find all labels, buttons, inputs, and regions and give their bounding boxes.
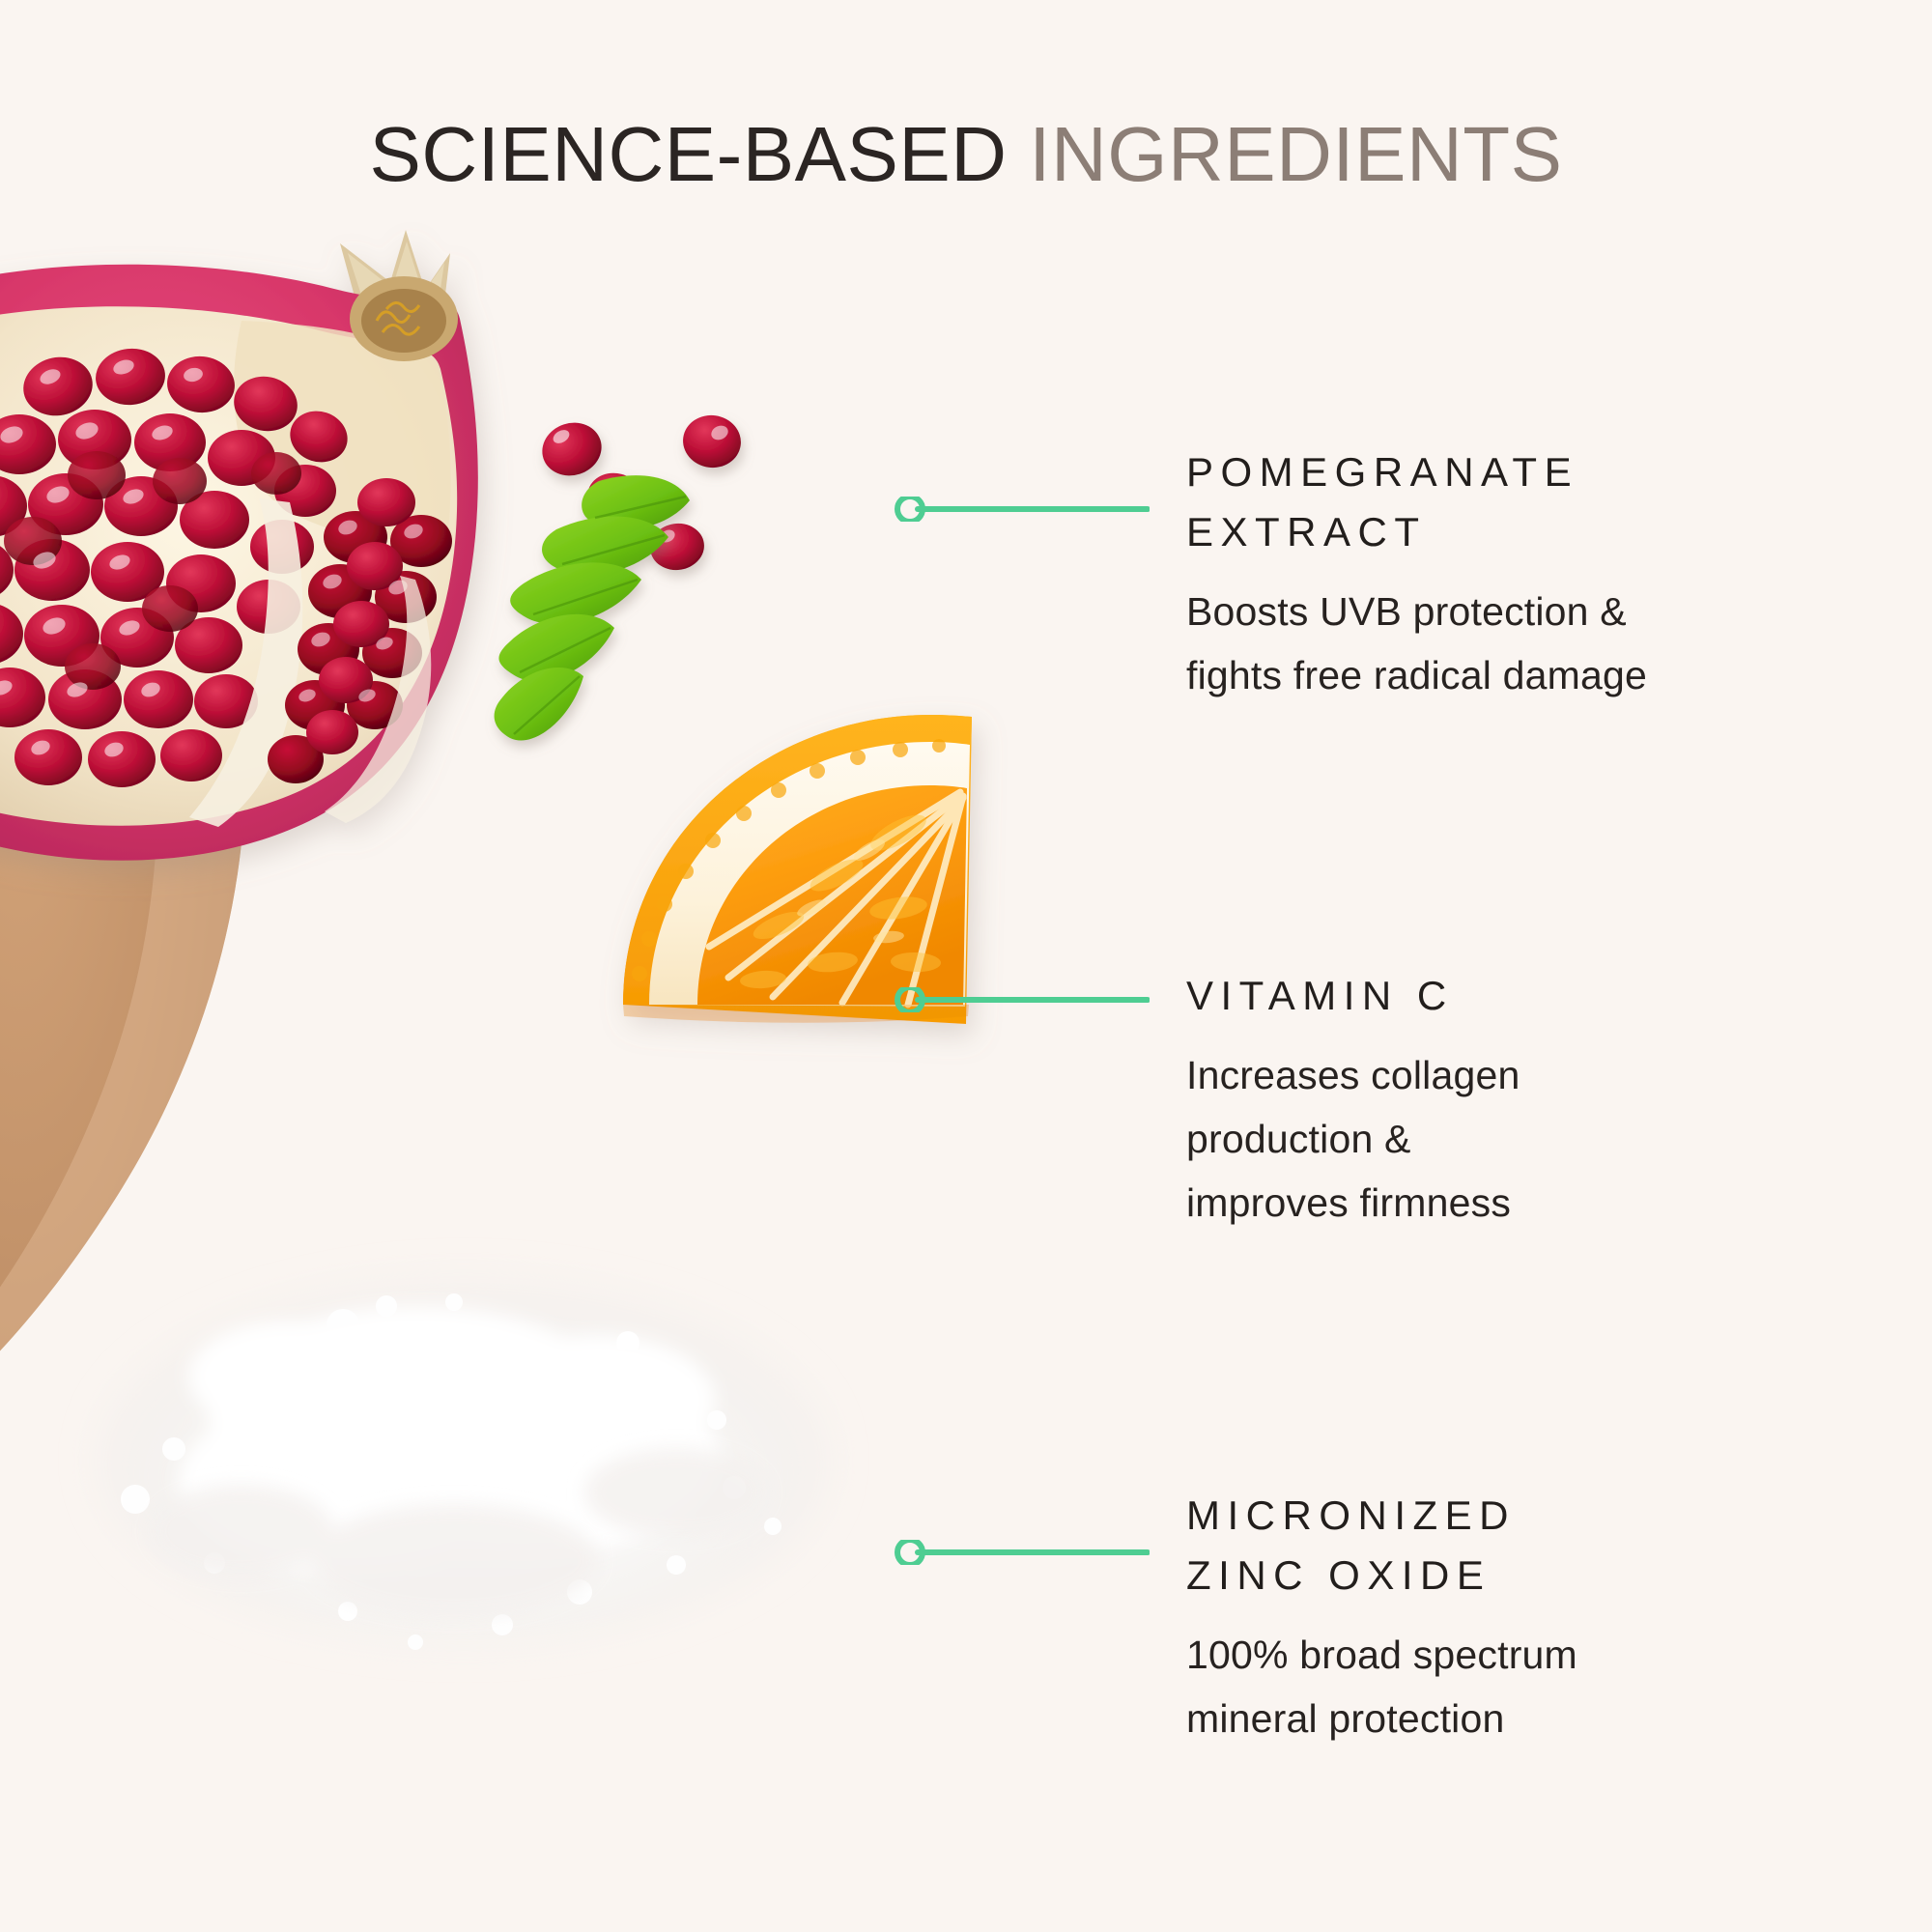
ingredient-desc-line2: fights free radical damage: [1186, 643, 1647, 707]
aril-cluster-left: [0, 345, 355, 787]
ingredient-title-line1: MICRONIZED: [1186, 1486, 1577, 1546]
label-block-vitamin-c: VITAMIN C Increases collagen production …: [1186, 966, 1520, 1235]
ingredient-artwork: [0, 0, 1932, 1932]
ingredient-desc-line1: Boosts UVB protection &: [1186, 580, 1647, 643]
page-title: SCIENCE-BASED INGREDIENTS: [0, 114, 1932, 195]
pomegranate-seeds-art: [535, 412, 744, 574]
label-block-pomegranate: POMEGRANATE EXTRACT Boosts UVB protectio…: [1186, 442, 1647, 707]
ingredient-desc-zinc-oxide: 100% broad spectrum mineral protection: [1186, 1623, 1577, 1750]
ingredient-title-line2: ZINC OXIDE: [1186, 1546, 1577, 1605]
pomegranate-half-art: [0, 230, 478, 861]
ingredients-infographic: SCIENCE-BASED INGREDIENTS POMEGRANATE EX…: [0, 0, 1932, 1932]
ingredient-desc-line2: production &: [1186, 1107, 1520, 1171]
leader-line-vitamin-c: [889, 987, 1150, 1012]
aril-cluster-right: [268, 478, 452, 783]
ingredient-desc-vitamin-c: Increases collagen production & improves…: [1186, 1043, 1520, 1235]
tan-cream-swatch-art: [0, 365, 246, 1420]
ingredient-desc-line1: 100% broad spectrum: [1186, 1623, 1577, 1687]
ingredient-desc-line1: Increases collagen: [1186, 1043, 1520, 1107]
leader-line-zinc-oxide: [889, 1540, 1150, 1565]
ingredient-title-line1: VITAMIN C: [1186, 966, 1520, 1026]
green-leaves-art: [495, 475, 690, 740]
ingredient-title-zinc-oxide: MICRONIZED ZINC OXIDE: [1186, 1486, 1577, 1605]
title-part-light: INGREDIENTS: [1029, 111, 1562, 197]
ingredient-desc-line2: mineral protection: [1186, 1687, 1577, 1750]
title-part-dark: SCIENCE-BASED: [370, 111, 1008, 197]
zinc-powder-art: [97, 1275, 831, 1650]
ingredient-title-vitamin-c: VITAMIN C: [1186, 966, 1520, 1026]
ingredient-desc-line3: improves firmness: [1186, 1171, 1520, 1235]
ingredient-desc-pomegranate: Boosts UVB protection & fights free radi…: [1186, 580, 1647, 707]
ingredient-title-line2: EXTRACT: [1186, 502, 1647, 562]
label-block-zinc-oxide: MICRONIZED ZINC OXIDE 100% broad spectru…: [1186, 1486, 1577, 1750]
orange-wedge-art: [623, 715, 972, 1024]
ingredient-title-line1: POMEGRANATE: [1186, 442, 1647, 502]
ingredient-title-pomegranate: POMEGRANATE EXTRACT: [1186, 442, 1647, 562]
leader-line-pomegranate: [889, 497, 1150, 522]
